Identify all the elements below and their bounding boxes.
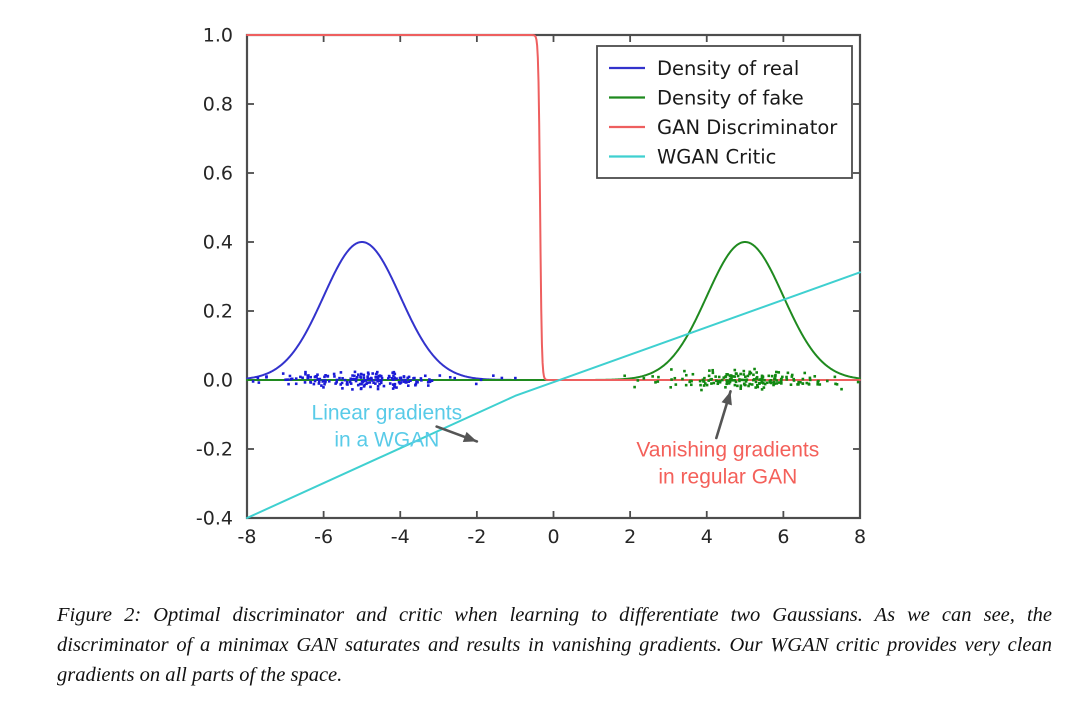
legend-label: Density of fake (657, 87, 804, 110)
scatter-point (669, 386, 672, 389)
scatter-point (290, 378, 293, 381)
scatter-point (416, 381, 419, 384)
scatter-point (826, 380, 829, 383)
scatter-point (734, 384, 737, 387)
scatter-point (403, 376, 406, 379)
scatter-point (623, 374, 626, 377)
scatter-point (710, 378, 713, 381)
scatter-point (295, 382, 298, 385)
scatter-point (771, 375, 774, 378)
scatter-point (674, 377, 677, 380)
scatter-point (492, 374, 495, 377)
scatter-point (333, 375, 336, 378)
scatter-point (389, 382, 392, 385)
scatter-point (763, 379, 766, 382)
scatter-point (728, 382, 731, 385)
scatter-point (675, 383, 678, 386)
scatter-point (735, 380, 738, 383)
scatter-point (314, 380, 317, 383)
scatter-point (743, 370, 746, 373)
scatter-point (322, 386, 325, 389)
scatter-point (715, 379, 718, 382)
scatter-point (306, 377, 309, 380)
scatter-point (371, 372, 374, 375)
scatter-point (391, 377, 394, 380)
scatter-point (287, 383, 290, 386)
scatter-point (295, 377, 298, 380)
matplotlib-figure: -8-6-4-202468 -0.4-0.20.00.20.40.60.81.0… (0, 0, 1080, 570)
legend-label: Density of real (657, 57, 799, 80)
scatter-point (685, 384, 688, 387)
scatter-point (475, 383, 478, 386)
x-tick-label: 0 (547, 526, 559, 548)
scatter-point (737, 375, 740, 378)
scatter-point (309, 381, 312, 384)
scatter-point (688, 381, 691, 384)
scatter-point (377, 385, 380, 388)
scatter-point (388, 375, 391, 378)
scatter-point (406, 377, 409, 380)
scatter-point (439, 374, 442, 377)
scatter-point (735, 372, 738, 375)
scatter-point (743, 383, 746, 386)
scatter-point (797, 383, 800, 386)
x-tick-label: 6 (777, 526, 789, 548)
x-tick-label: 8 (854, 526, 866, 548)
scatter-point (733, 369, 736, 372)
scatter-point (744, 375, 747, 378)
scatter-point (708, 375, 711, 378)
scatter-point (777, 371, 780, 374)
scatter-point (252, 380, 255, 383)
scatter-point (755, 381, 758, 384)
scatter-point (336, 379, 339, 382)
scatter-point (393, 385, 396, 388)
scatter-point (685, 374, 688, 377)
scatter-point (401, 379, 404, 382)
scatter-point (739, 386, 742, 389)
scatter-point (787, 372, 790, 375)
scatter-point (651, 375, 654, 378)
scatter-point (637, 379, 640, 382)
scatter-point (724, 386, 727, 389)
scatter-point (780, 378, 783, 381)
scatter-point (412, 377, 415, 380)
scatter-point (817, 380, 820, 383)
x-tick-label: -6 (314, 526, 333, 548)
scatter-point (351, 378, 354, 381)
scatter-point (713, 382, 716, 385)
scatter-point (803, 372, 806, 375)
scatter-point (355, 380, 358, 383)
scatter-point (376, 380, 379, 383)
scatter-point (714, 375, 717, 378)
y-tick-label: 0.2 (203, 301, 233, 323)
scatter-point (307, 374, 310, 377)
scatter-point (362, 374, 365, 377)
scatter-point (690, 383, 693, 386)
scatter-point (755, 371, 758, 374)
scatter-point (718, 376, 721, 379)
scatter-point (761, 375, 764, 378)
scatter-point (316, 378, 319, 381)
scatter-point (753, 368, 756, 371)
scatter-point (710, 382, 713, 385)
scatter-point (762, 382, 765, 385)
scatter-point (360, 388, 363, 391)
y-tick-label: -0.2 (196, 439, 233, 461)
scatter-point (739, 373, 742, 376)
scatter-point (284, 378, 287, 381)
scatter-point (727, 373, 730, 376)
scatter-point (683, 370, 686, 373)
scatter-point (754, 386, 757, 389)
scatter-point (323, 376, 326, 379)
scatter-point (289, 375, 292, 378)
y-tick-label: 0.8 (203, 94, 233, 116)
scatter-point (449, 376, 452, 379)
scatter-point (366, 375, 369, 378)
x-tick-label: -4 (391, 526, 410, 548)
scatter-point (774, 374, 777, 377)
scatter-point (354, 371, 357, 374)
scatter-point (299, 376, 302, 379)
scatter-point (769, 380, 772, 383)
scatter-point (773, 383, 776, 386)
scatter-point (375, 373, 378, 376)
scatter-point (733, 375, 736, 378)
scatter-point (791, 374, 794, 377)
scatter-point (392, 374, 395, 377)
scatter-point (364, 379, 367, 382)
scatter-point (747, 385, 750, 388)
scatter-point (428, 378, 431, 381)
scatter-point (378, 375, 381, 378)
scatter-point (407, 384, 410, 387)
scatter-point (367, 371, 370, 374)
scatter-point (768, 375, 771, 378)
scatter-point (282, 372, 285, 375)
scatter-point (752, 373, 755, 376)
scatter-point (316, 373, 319, 376)
scatter-point (427, 384, 430, 387)
scatter-point (722, 376, 725, 379)
scatter-point (366, 381, 369, 384)
scatter-point (792, 378, 795, 381)
y-tick-label: -0.4 (196, 508, 233, 530)
scatter-point (758, 378, 761, 381)
scatter-point (340, 371, 343, 374)
scatter-point (840, 388, 843, 391)
scatter-point (351, 388, 354, 391)
scatter-point (377, 388, 380, 391)
figure-2-container: -8-6-4-202468 -0.4-0.20.00.20.40.60.81.0… (0, 0, 1080, 726)
scatter-point (643, 377, 646, 380)
scatter-point (359, 375, 362, 378)
x-tick-label: -8 (238, 526, 257, 548)
scatter-point (374, 376, 377, 379)
scatter-point (395, 377, 398, 380)
scatter-point (736, 385, 739, 388)
scatter-point (324, 379, 327, 382)
x-tick-label: -2 (467, 526, 486, 548)
scatter-point (700, 389, 703, 392)
y-tick-label: 1.0 (203, 25, 233, 47)
scatter-point (383, 385, 386, 388)
scatter-point (369, 381, 372, 384)
scatter-point (738, 380, 741, 383)
scatter-point (304, 373, 307, 376)
scatter-point (699, 380, 702, 383)
legend-box: Density of realDensity of fakeGAN Discri… (597, 46, 852, 178)
scatter-point (730, 379, 733, 382)
scatter-point (748, 371, 751, 374)
plot-area: -8-6-4-202468 -0.4-0.20.00.20.40.60.81.0… (0, 0, 1080, 570)
scatter-point (309, 376, 312, 379)
scatter-point (339, 383, 342, 386)
scatter-point (743, 379, 746, 382)
scatter-point (501, 377, 504, 380)
scatter-point (790, 383, 793, 386)
legend-label: WGAN Critic (657, 146, 776, 169)
scatter-point (704, 382, 707, 385)
scatter-point (360, 383, 363, 386)
scatter-point (708, 369, 711, 372)
scatter-point (633, 386, 636, 389)
annotation-line: in a WGAN (334, 429, 439, 452)
scatter-point (453, 377, 456, 380)
scatter-point (327, 375, 330, 378)
scatter-point (313, 383, 316, 386)
scatter-point (357, 373, 360, 376)
scatter-point (681, 378, 684, 381)
scatter-point (818, 383, 821, 386)
scatter-point (785, 376, 788, 379)
scatter-point (801, 382, 804, 385)
scatter-point (707, 379, 710, 382)
scatter-point (753, 378, 756, 381)
scatter-point (363, 376, 366, 379)
y-tick-label: 0.4 (203, 232, 233, 254)
scatter-point (304, 381, 307, 384)
scatter-point (813, 375, 816, 378)
scatter-point (654, 381, 657, 384)
scatter-point (751, 383, 754, 386)
figure-caption: Figure 2: Optimal discriminator and crit… (57, 600, 1052, 690)
scatter-point (314, 376, 317, 379)
scatter-point (321, 380, 324, 383)
scatter-point (514, 377, 517, 380)
annotation-line: Linear gradients (312, 402, 463, 425)
scatter-point (374, 382, 377, 385)
scatter-point (657, 380, 660, 383)
scatter-point (741, 379, 744, 382)
scatter-point (761, 388, 764, 391)
scatter-point (711, 369, 714, 372)
scatter-point (318, 382, 321, 385)
scatter-point (334, 382, 337, 385)
scatter-point (356, 376, 359, 379)
scatter-point (809, 379, 812, 382)
scatter-point (370, 377, 373, 380)
scatter-point (758, 382, 761, 385)
y-tick-label: 0.0 (203, 370, 233, 392)
scatter-point (857, 381, 860, 384)
scatter-point (785, 378, 788, 381)
scatter-point (703, 377, 706, 380)
scatter-point (766, 381, 769, 384)
annotation-line: in regular GAN (658, 466, 797, 489)
x-tick-label: 4 (701, 526, 713, 548)
scatter-point (712, 372, 715, 375)
scatter-point (407, 380, 410, 383)
scatter-point (323, 383, 326, 386)
legend-label: GAN Discriminator (657, 116, 838, 139)
scatter-point (719, 380, 722, 383)
scatter-point (834, 376, 837, 379)
scatter-point (420, 379, 423, 382)
scatter-point (774, 377, 777, 380)
scatter-point (301, 376, 304, 379)
scatter-point (424, 374, 427, 377)
scatter-point (775, 371, 778, 374)
x-tick-label: 2 (624, 526, 636, 548)
scatter-point (328, 380, 331, 383)
scatter-point (755, 377, 758, 380)
scatter-point (346, 383, 349, 386)
scatter-point (657, 376, 660, 379)
scatter-point (725, 383, 728, 386)
scatter-point (265, 375, 268, 378)
scatter-point (699, 384, 702, 387)
scatter-point (692, 373, 695, 376)
scatter-point (350, 382, 353, 385)
scatter-point (258, 381, 261, 384)
scatter-point (338, 377, 341, 380)
annotation-line: Vanishing gradients (636, 439, 819, 462)
scatter-point (802, 378, 805, 381)
scatter-point (480, 379, 483, 382)
scatter-point (805, 382, 808, 385)
y-tick-label: 0.6 (203, 163, 233, 185)
scatter-point (257, 377, 260, 380)
scatter-point (391, 371, 394, 374)
scatter-point (341, 387, 344, 390)
scatter-point (353, 375, 356, 378)
scatter-point (834, 383, 837, 386)
scatter-point (670, 368, 673, 371)
scatter-point (716, 382, 719, 385)
scatter-point (780, 381, 783, 384)
scatter-point (360, 373, 363, 376)
scatter-point (341, 377, 344, 380)
scatter-point (776, 382, 779, 385)
scatter-point (670, 378, 673, 381)
scatter-point (781, 376, 784, 379)
scatter-point (398, 381, 401, 384)
scatter-point (747, 375, 750, 378)
scatter-point (742, 373, 745, 376)
scatter-point (404, 379, 407, 382)
scatter-point (333, 373, 336, 376)
scatter-point (369, 386, 372, 389)
scatter-point (371, 379, 374, 382)
